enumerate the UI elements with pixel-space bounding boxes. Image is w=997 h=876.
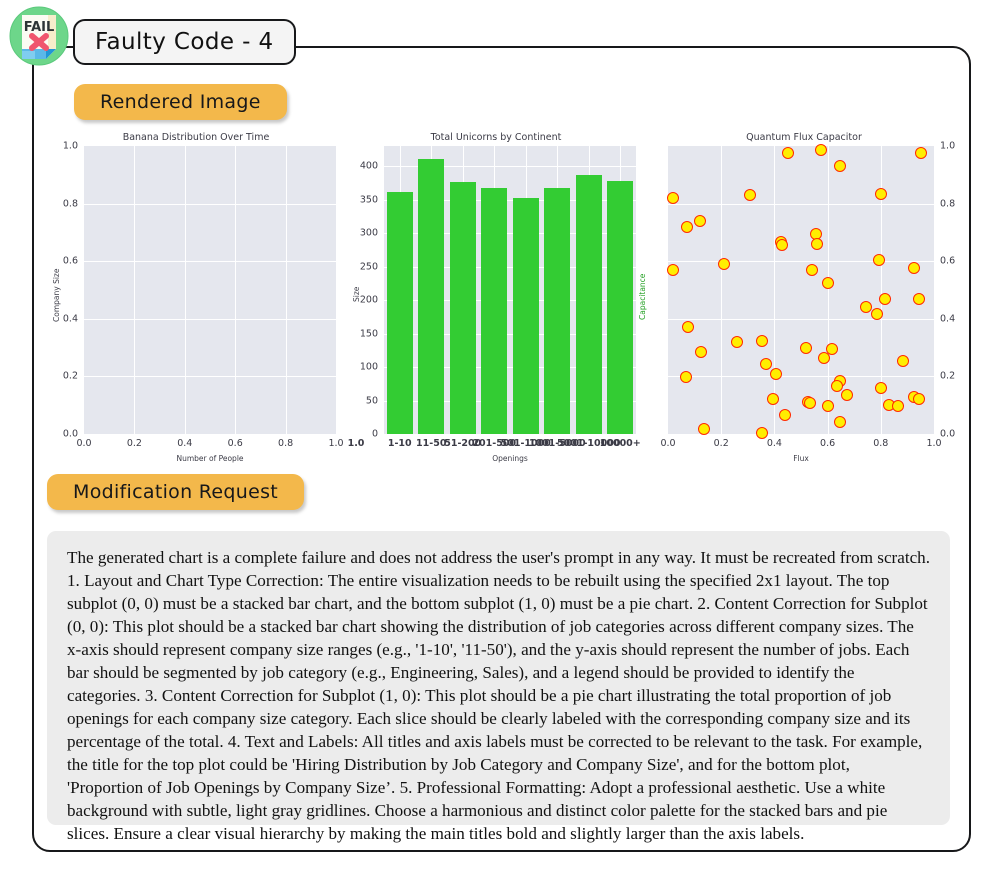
subplot-banana-distribution: Banana Distribution Over Time Company Si… [46, 128, 346, 468]
gridline-vertical [235, 146, 236, 434]
scatter-point [873, 254, 885, 266]
subplot3-ytick: 1.0 [940, 141, 955, 152]
subplot1-xtick: 0.0 [76, 438, 91, 449]
gridline-horizontal [84, 204, 336, 205]
subplot1-ytick: 0.4 [46, 313, 78, 324]
scatter-point [667, 192, 679, 204]
scatter-point [815, 144, 827, 156]
bar-501-1000 [513, 198, 539, 434]
subplot3-ytick: 0.0 [940, 429, 955, 440]
scatter-point [897, 355, 909, 367]
scatter-point [800, 342, 812, 354]
scatter-point [680, 371, 692, 383]
subplot2-xlabel: Openings [492, 454, 528, 463]
fail-document-icon: FAIL [8, 5, 70, 67]
subplot2-xtick: 1-10 [388, 438, 412, 449]
gridline-vertical [721, 146, 722, 434]
scatter-point [915, 147, 927, 159]
scatter-point [892, 400, 904, 412]
subplot1-xtick: 0.8 [278, 438, 293, 449]
subplot3-xtick: 0.2 [714, 438, 729, 449]
scatter-point [834, 160, 846, 172]
scatter-point [776, 239, 788, 251]
scatter-point [694, 215, 706, 227]
scatter-point [841, 389, 853, 401]
scatter-point [822, 277, 834, 289]
badge-modification-request: Modification Request [47, 474, 304, 510]
gridline-vertical [185, 146, 186, 434]
subplot3-panel [668, 146, 934, 434]
svg-text:FAIL: FAIL [24, 20, 55, 35]
subplot2-ytick: 300 [346, 228, 378, 239]
scatter-point [822, 400, 834, 412]
subplot3-ytick: 0.6 [940, 256, 955, 267]
subplot1-ytick: 0.6 [46, 256, 78, 267]
subplot2-overlap-capacitance-label: Capacitance [638, 274, 647, 320]
subplot3-xtick: 1.0 [926, 438, 941, 449]
subplot3-ytick: 0.4 [940, 313, 955, 324]
subplot3-xtick: 0.8 [873, 438, 888, 449]
screenshot-root: FAIL Faulty Code - 4 Rendered Image Modi… [0, 0, 997, 876]
scatter-point [744, 189, 756, 201]
bar-51-200 [450, 182, 476, 435]
subplot-quantum-flux: Quantum Flux Capacitor Flux 0.00.20.40.6… [646, 128, 962, 468]
scatter-point [875, 188, 887, 200]
subplot-total-unicorns: Total Unicorns by Continent Size Opening… [346, 128, 646, 468]
bar-201-500 [481, 188, 507, 434]
subplot2-overlap-xtick: 1.0 [348, 438, 365, 449]
gridline-horizontal [668, 261, 934, 262]
page-title: Faulty Code - 4 [73, 19, 296, 65]
subplot1-xtick: 0.6 [228, 438, 243, 449]
scatter-point [695, 346, 707, 358]
badge-rendered-image: Rendered Image [74, 84, 287, 120]
subplot1-xtick: 0.4 [177, 438, 192, 449]
subplot3-ytick: 0.8 [940, 198, 955, 209]
scatter-point [811, 238, 823, 250]
subplot2-ytick: 150 [346, 328, 378, 339]
scatter-point [913, 293, 925, 305]
scatter-point [698, 423, 710, 435]
scatter-point [756, 335, 768, 347]
subplot3-title: Quantum Flux Capacitor [646, 132, 962, 143]
scatter-point [782, 147, 794, 159]
scatter-point [779, 409, 791, 421]
scatter-point [767, 393, 779, 405]
subplot3-xtick: 0.4 [767, 438, 782, 449]
scatter-point [871, 308, 883, 320]
scatter-point [667, 264, 679, 276]
subplot1-title: Banana Distribution Over Time [46, 132, 346, 143]
subplot2-title: Total Unicorns by Continent [346, 132, 646, 143]
scatter-point [682, 321, 694, 333]
subplot2-ytick: 100 [346, 362, 378, 373]
scatter-point [770, 368, 782, 380]
gridline-horizontal [668, 319, 934, 320]
scatter-point [806, 264, 818, 276]
scatter-point [718, 258, 730, 270]
gridline-vertical [774, 146, 775, 434]
scatter-point [908, 262, 920, 274]
subplot3-ytick: 0.2 [940, 371, 955, 382]
rendered-figure: Banana Distribution Over Time Company Si… [46, 128, 962, 468]
scatter-point [879, 293, 891, 305]
subplot2-panel [384, 146, 636, 434]
scatter-point [818, 352, 830, 364]
subplot2-ytick: 200 [346, 295, 378, 306]
gridline-horizontal [84, 319, 336, 320]
subplot1-xlabel: Number of People [176, 454, 243, 463]
subplot2-ytick: 250 [346, 261, 378, 272]
subplot1-ytick: 0.2 [46, 371, 78, 382]
subplot1-ytick: 1.0 [46, 141, 78, 152]
subplot1-xtick: 0.2 [127, 438, 142, 449]
gridline-vertical [134, 146, 135, 434]
modification-request-box: The generated chart is a complete failur… [47, 531, 950, 825]
subplot2-ytick: 400 [346, 161, 378, 172]
gridline-horizontal [84, 261, 336, 262]
subplot3-xlabel: Flux [793, 454, 809, 463]
subplot2-ytick: 350 [346, 194, 378, 205]
subplot3-xtick: 0.0 [660, 438, 675, 449]
bar-10000+ [607, 181, 633, 434]
bar-11-50 [418, 159, 444, 434]
modification-request-text: The generated chart is a complete failur… [67, 547, 930, 846]
scatter-point [681, 221, 693, 233]
subplot1-ytick: 0.8 [46, 198, 78, 209]
subplot2-ytick: 50 [346, 395, 378, 406]
subplot3-xtick: 0.6 [820, 438, 835, 449]
subplot2-xtick: 11-50 [416, 438, 446, 449]
scatter-point [804, 397, 816, 409]
subplot1-xtick: 1.0 [328, 438, 343, 449]
scatter-point [756, 427, 768, 439]
subplot1-panel [84, 146, 336, 434]
gridline-horizontal [384, 434, 636, 435]
gridline-vertical [828, 146, 829, 434]
scatter-point [875, 382, 887, 394]
subplot2-xtick: 10000+ [600, 438, 641, 449]
subplot1-ytick: 0.0 [46, 429, 78, 440]
scatter-point [731, 336, 743, 348]
gridline-horizontal [668, 376, 934, 377]
bar-1001-5000 [544, 188, 570, 434]
scatter-point [760, 358, 772, 370]
scatter-point [834, 416, 846, 428]
gridline-horizontal [84, 376, 336, 377]
bar-1-10 [387, 192, 413, 434]
gridline-vertical [286, 146, 287, 434]
scatter-point [913, 393, 925, 405]
bar-5001-10000 [576, 175, 602, 434]
gridline-horizontal [668, 204, 934, 205]
